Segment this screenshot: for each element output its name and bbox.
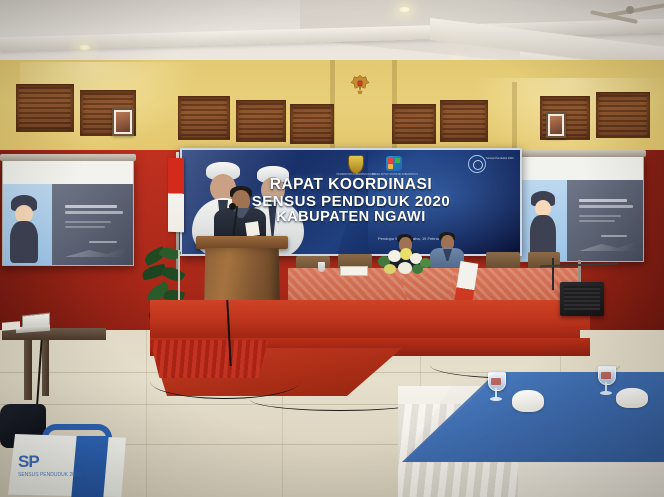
kabupaten-ngawi-emblem-icon xyxy=(348,155,364,174)
slide-right xyxy=(521,157,643,261)
projector-screen-left xyxy=(2,160,134,266)
slide-left-body-1 xyxy=(65,221,111,223)
projector-screen-left-top-bar xyxy=(0,154,136,161)
stage-riser xyxy=(150,316,580,340)
flower-arrangement xyxy=(376,248,432,276)
sensus-penduduk-2020-logo-icon xyxy=(468,155,486,173)
podium-top xyxy=(196,236,288,249)
wall-panel-5 xyxy=(290,104,334,144)
front-table-glass-2 xyxy=(597,366,615,396)
equipment-tripod-stand xyxy=(552,258,554,290)
slide-left-subheading xyxy=(65,211,123,214)
head-table-glass xyxy=(318,262,325,272)
wall-panel-6 xyxy=(392,104,436,144)
slide-right-body-1 xyxy=(579,215,621,217)
slide-left xyxy=(3,161,133,265)
slide-right-subheading xyxy=(579,205,633,208)
tote-bag-blue-band xyxy=(71,436,108,497)
table-nameplate xyxy=(340,266,368,276)
wall-seam-far-right xyxy=(512,82,517,156)
downlight-4 xyxy=(398,6,411,13)
mascot-body-right-icon xyxy=(530,215,556,257)
wall-panel-1 xyxy=(16,84,74,132)
bps-logo-icon xyxy=(386,156,402,171)
downlight-1 xyxy=(78,44,91,51)
indonesian-flag xyxy=(168,158,184,233)
garuda-pancasila-emblem xyxy=(350,72,370,98)
tote-bag-subtitle: SENSUS PENDUDUK 2020 xyxy=(18,472,81,478)
tote-bag-logo-text: SP xyxy=(18,452,39,472)
av-desk-leg-2 xyxy=(42,340,49,396)
speaker-paper xyxy=(245,221,260,237)
front-table-napkin-1 xyxy=(512,390,544,412)
slide-right-heading xyxy=(579,199,627,202)
slide-left-heading xyxy=(65,205,117,208)
slide-right-footer xyxy=(601,235,627,237)
wall-panel-4 xyxy=(236,100,286,142)
slide-left-body-2 xyxy=(65,226,105,228)
sensus-logo-caption: Sensus Penduduk 2020 xyxy=(486,157,514,160)
meeting-hall-photo: PEMERINTAH KABUPATEN NGAWI BADAN PUSAT S… xyxy=(0,0,664,497)
wall-panel-3 xyxy=(178,96,230,140)
mascot-body-left-icon xyxy=(10,221,38,263)
wall-panel-7 xyxy=(440,100,488,142)
podium-microphone-icon xyxy=(229,203,236,210)
floor-tile-line-v1 xyxy=(146,330,147,497)
projector-screen-right xyxy=(520,156,644,262)
av-desk-papers xyxy=(2,321,20,331)
projector-screen-right-top-bar xyxy=(518,150,646,157)
floor-monitor-speaker xyxy=(560,282,604,316)
front-table-napkin-2 xyxy=(616,388,648,408)
slide-right-body-2 xyxy=(579,220,615,222)
slide-left-footer xyxy=(89,241,117,243)
framed-portrait-right xyxy=(546,112,566,138)
front-table-glass-1 xyxy=(487,372,505,402)
framed-portrait-left xyxy=(112,108,134,136)
av-desk-leg-1 xyxy=(24,340,32,400)
ceiling-fan xyxy=(580,6,664,24)
wall-panel-9 xyxy=(596,92,650,138)
speaker-person xyxy=(212,186,268,242)
